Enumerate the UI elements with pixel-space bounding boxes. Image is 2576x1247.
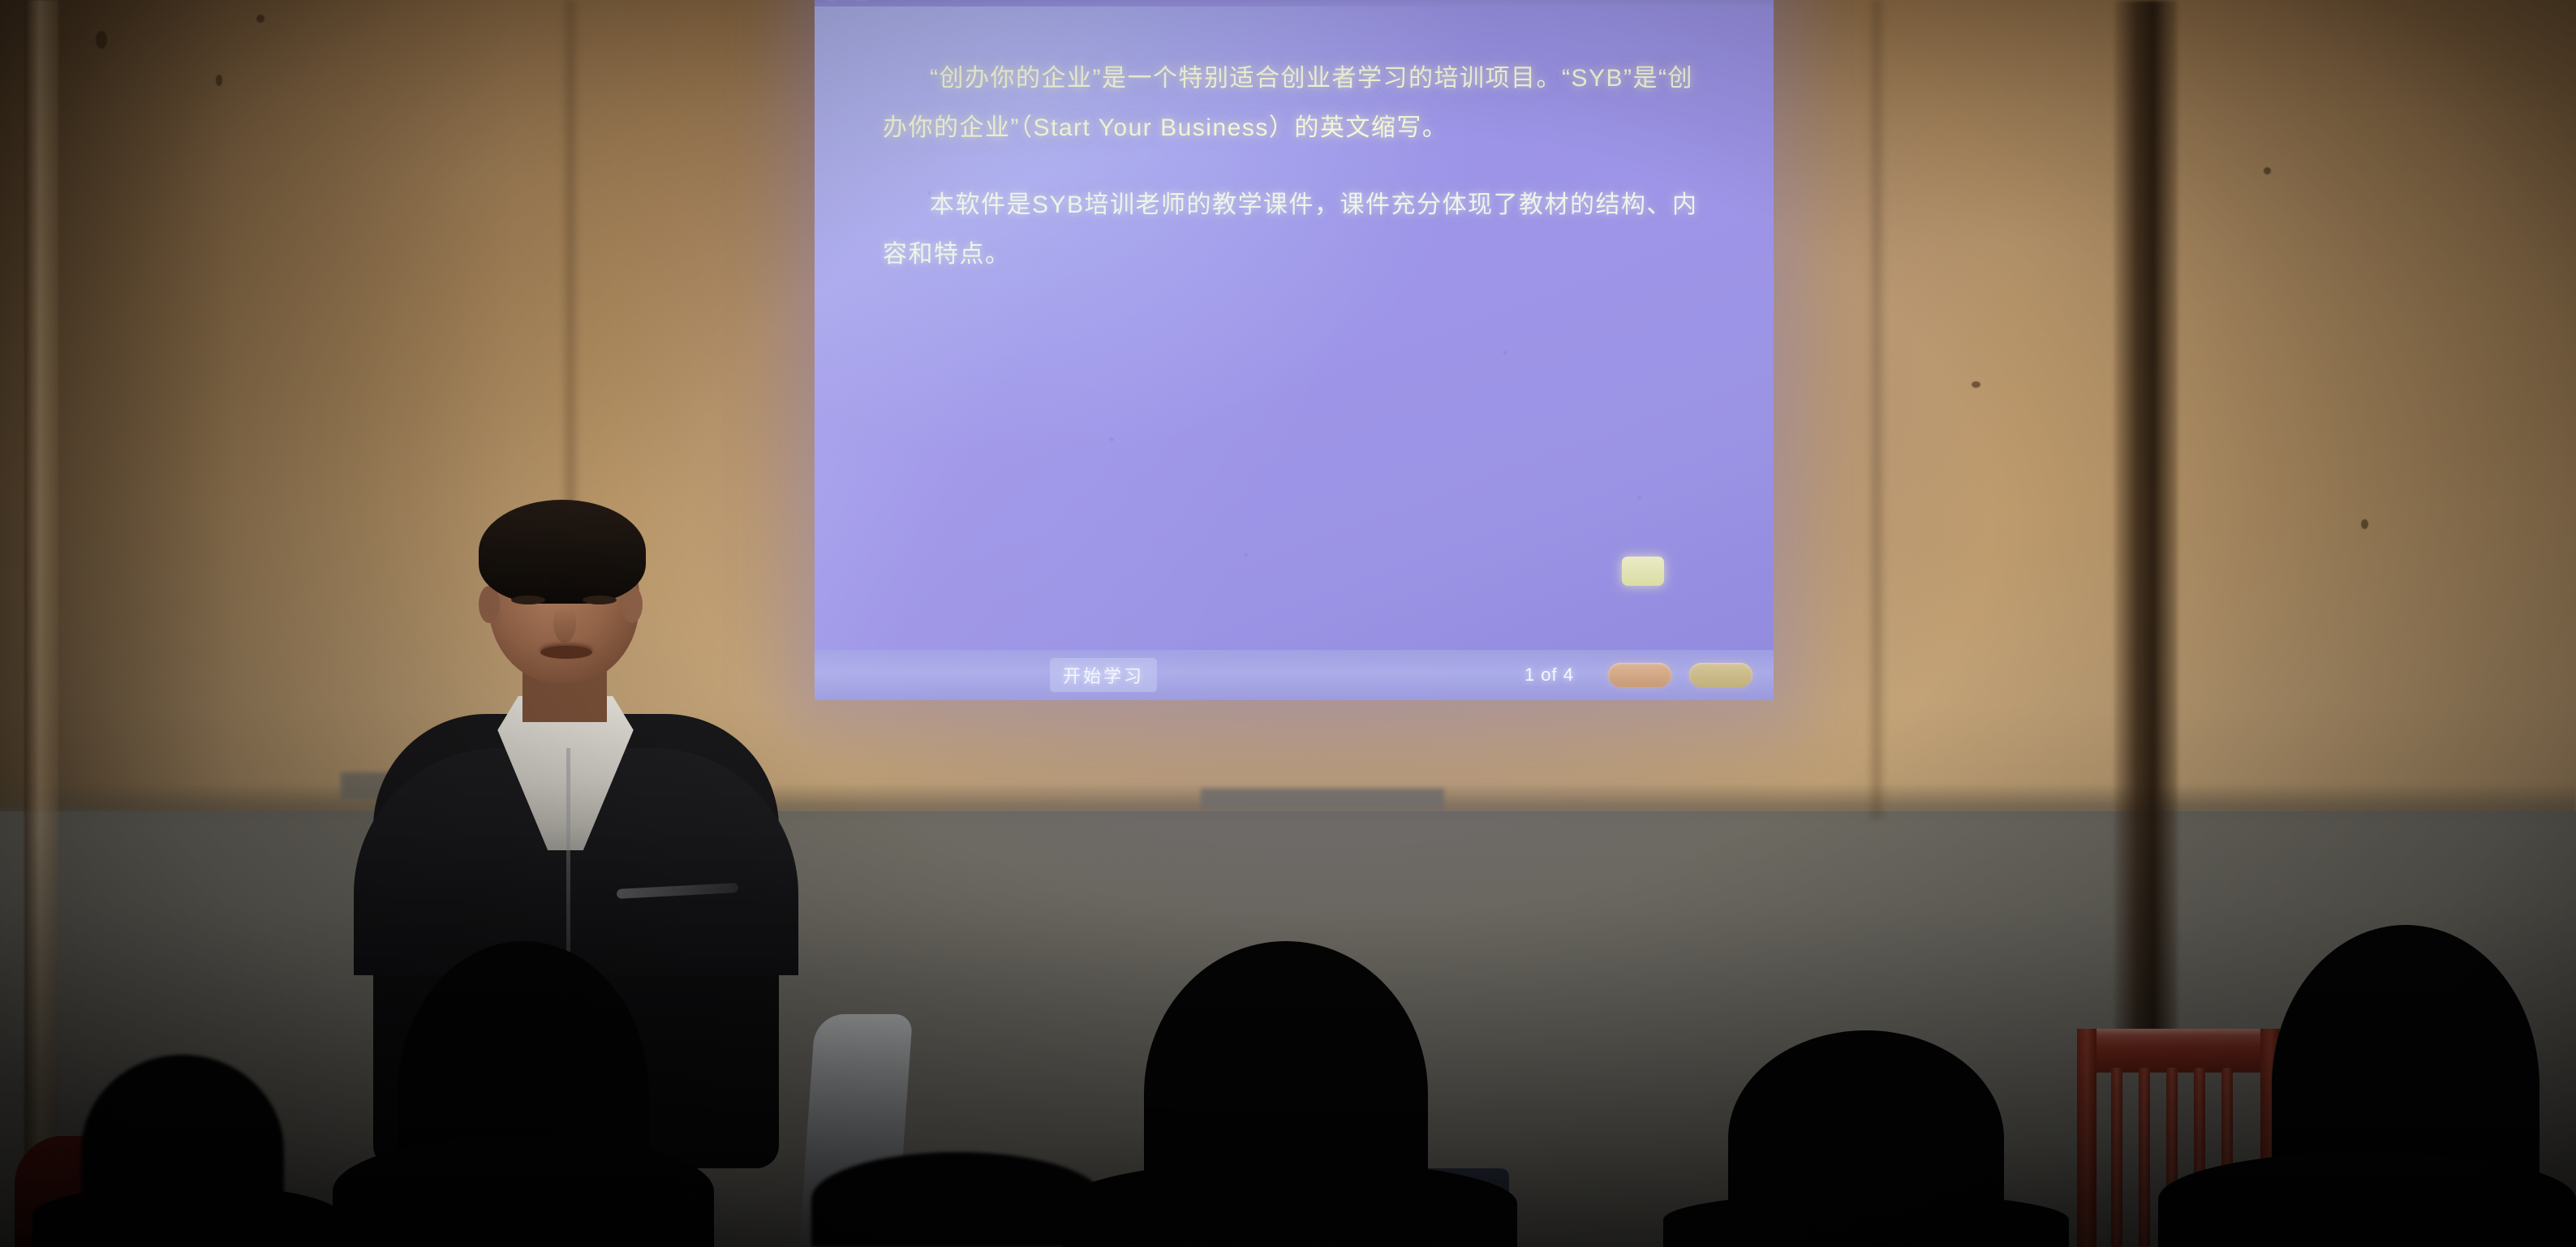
- presenter-nose: [553, 605, 576, 643]
- chair-slat: [2139, 1068, 2150, 1247]
- wall-speck: [2361, 519, 2368, 529]
- next-slide-button[interactable]: [1689, 663, 1752, 687]
- photo-scene: SYB 创办你的企业 帮 助 “创办你的企业”是一个特别适合创业者学习的培训项目…: [0, 0, 2576, 1247]
- presenter-hair: [479, 500, 646, 604]
- presenter-mouth: [540, 646, 592, 659]
- wall-speck: [256, 15, 264, 23]
- menu-item-help-1[interactable]: 帮: [1669, 0, 1683, 2]
- chair-slat: [2111, 1068, 2122, 1247]
- wall-seam: [1866, 0, 1887, 819]
- wall-speck: [96, 31, 107, 49]
- slide-paragraph-2: 本软件是SYB培训老师的教学课件，课件充分体现了教材的结构、内容和特点。: [883, 180, 1705, 279]
- presenter-eye-left: [511, 596, 545, 604]
- slide-control-bar: 开始学习 1 of 4: [815, 650, 1774, 700]
- presenter-figure: [349, 511, 803, 965]
- wall-pillar-left: [24, 0, 58, 1247]
- audience-shoulders: [32, 1185, 341, 1247]
- app-logo: SYB: [824, 0, 870, 4]
- audience-shoulders: [2158, 1152, 2576, 1247]
- prev-slide-button[interactable]: [1608, 663, 1671, 687]
- chair-post-left: [2077, 1029, 2096, 1247]
- audience-shoulders: [333, 1136, 714, 1247]
- slide-title-bar: SYB 创办你的企业 帮 助: [815, 0, 1774, 6]
- menu-item-help-2[interactable]: 助: [1707, 0, 1721, 2]
- page-indicator: 1 of 4: [1525, 664, 1574, 686]
- slide-content: “创办你的企业”是一个特别适合创业者学习的培训项目。“SYB”是“创办你的企业”…: [815, 6, 1774, 617]
- slide-hint-button[interactable]: [1622, 557, 1664, 586]
- audience-shoulders: [1063, 1160, 1517, 1247]
- wainscot-bump: [1201, 789, 1444, 810]
- wall-speck: [2264, 167, 2271, 174]
- title-bar-menu[interactable]: 帮 助: [1669, 0, 1721, 2]
- wall-speck: [1972, 381, 1980, 388]
- wall-speck: [216, 75, 222, 86]
- app-title-chinese: 创办你的企业: [891, 0, 983, 2]
- audience-head: [811, 1152, 1103, 1247]
- audience-shoulders: [1663, 1193, 2069, 1247]
- chair-top-rail: [2077, 1029, 2280, 1073]
- wall-column-dark: [2114, 0, 2178, 1047]
- projected-slide: SYB 创办你的企业 帮 助 “创办你的企业”是一个特别适合创业者学习的培训项目…: [815, 0, 1774, 700]
- start-learning-button[interactable]: 开始学习: [1050, 658, 1157, 692]
- presenter-eye-right: [583, 596, 617, 604]
- slide-paragraph-1: “创办你的企业”是一个特别适合创业者学习的培训项目。“SYB”是“创办你的企业”…: [883, 54, 1705, 153]
